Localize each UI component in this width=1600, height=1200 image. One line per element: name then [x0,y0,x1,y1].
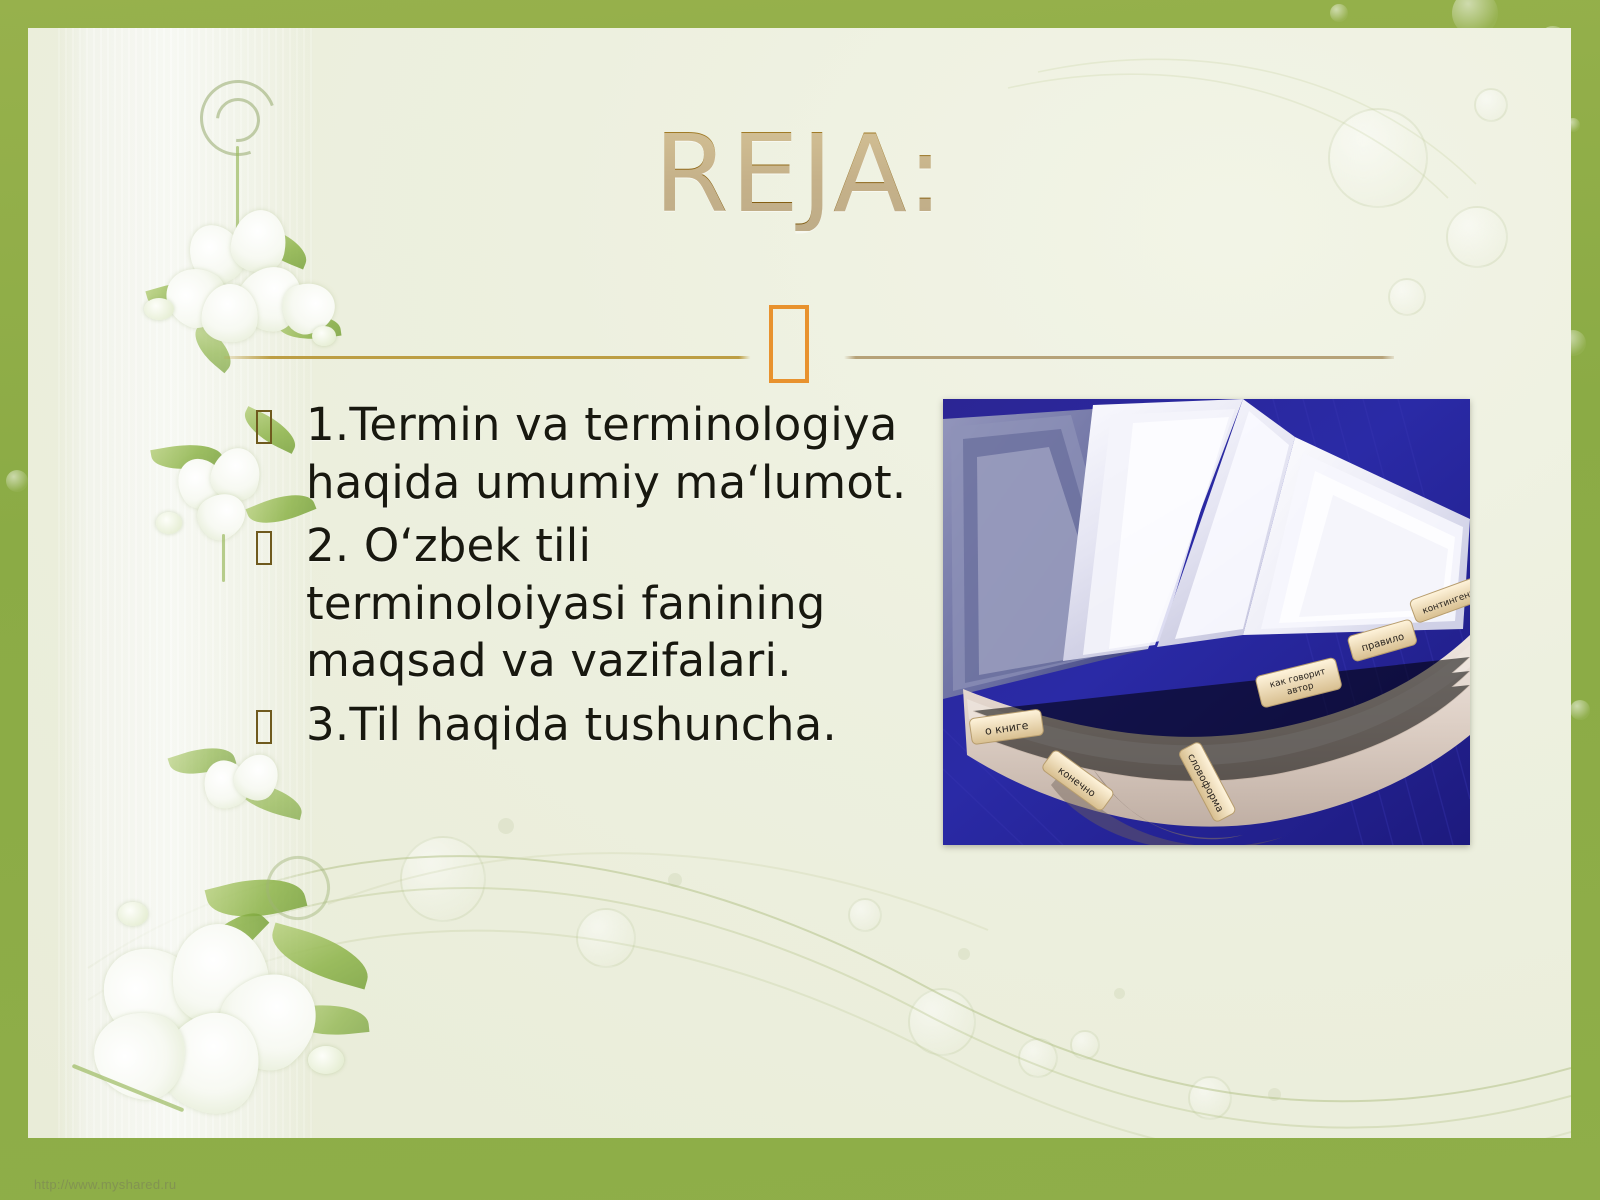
background-bubble-icon [1474,88,1508,122]
list-item[interactable]: 2. O‘zbek tili terminoloiyasi fanining m… [256,517,916,690]
list-item[interactable]: 1.Termin va terminologiya haqida umumiy … [256,396,916,511]
background-bubble-icon [848,898,882,932]
bullet-missing-glyph-box-icon [256,531,272,565]
bullet-item-text: 1.Termin va terminologiya haqida umumiy … [306,396,916,511]
background-bubble-icon [908,988,976,1056]
background-bubble-icon [1388,278,1426,316]
title-block: REJA: [28,118,1571,231]
source-watermark: http://www.myshared.ru [34,1177,176,1192]
background-dot-icon [498,818,514,834]
background-dot-icon [1268,1088,1281,1101]
bullet-item-text: 2. O‘zbek tili terminoloiyasi fanining m… [306,517,916,690]
slide-canvas: REJA: 1.Termin va terminologiya haqida u… [28,28,1571,1138]
open-book-with-index-tabs-photo[interactable]: о книге конечно словоформа как говорит а… [943,399,1470,845]
border-bubble-icon [6,470,28,492]
bullet-item-text: 3.Til haqida tushuncha. [306,696,837,754]
presentation-slide: REJA: 1.Termin va terminologiya haqida u… [0,0,1600,1200]
background-dot-icon [668,873,682,887]
page-title: REJA: [28,118,1571,231]
bullet-list: 1.Termin va terminologiya haqida umumiy … [256,396,916,760]
background-bubble-icon [1070,1030,1100,1060]
blossom-cluster-lower [68,850,398,1138]
title-divider [224,356,1394,359]
background-bubble-icon [1188,1076,1232,1120]
background-bubble-icon [1018,1038,1058,1078]
title-missing-glyph-box-icon [769,305,809,383]
border-bubble-icon [1330,4,1348,22]
border-bubble-icon [1570,700,1590,720]
bullet-missing-glyph-box-icon [256,410,272,444]
background-bubble-icon [576,908,636,968]
bullet-missing-glyph-box-icon [256,710,272,744]
list-item[interactable]: 3.Til haqida tushuncha. [256,696,916,754]
background-bubble-icon [400,836,486,922]
background-dot-icon [958,948,970,960]
book-photo-illustration: о книге конечно словоформа как говорит а… [943,399,1470,845]
background-dot-icon [1114,988,1125,999]
